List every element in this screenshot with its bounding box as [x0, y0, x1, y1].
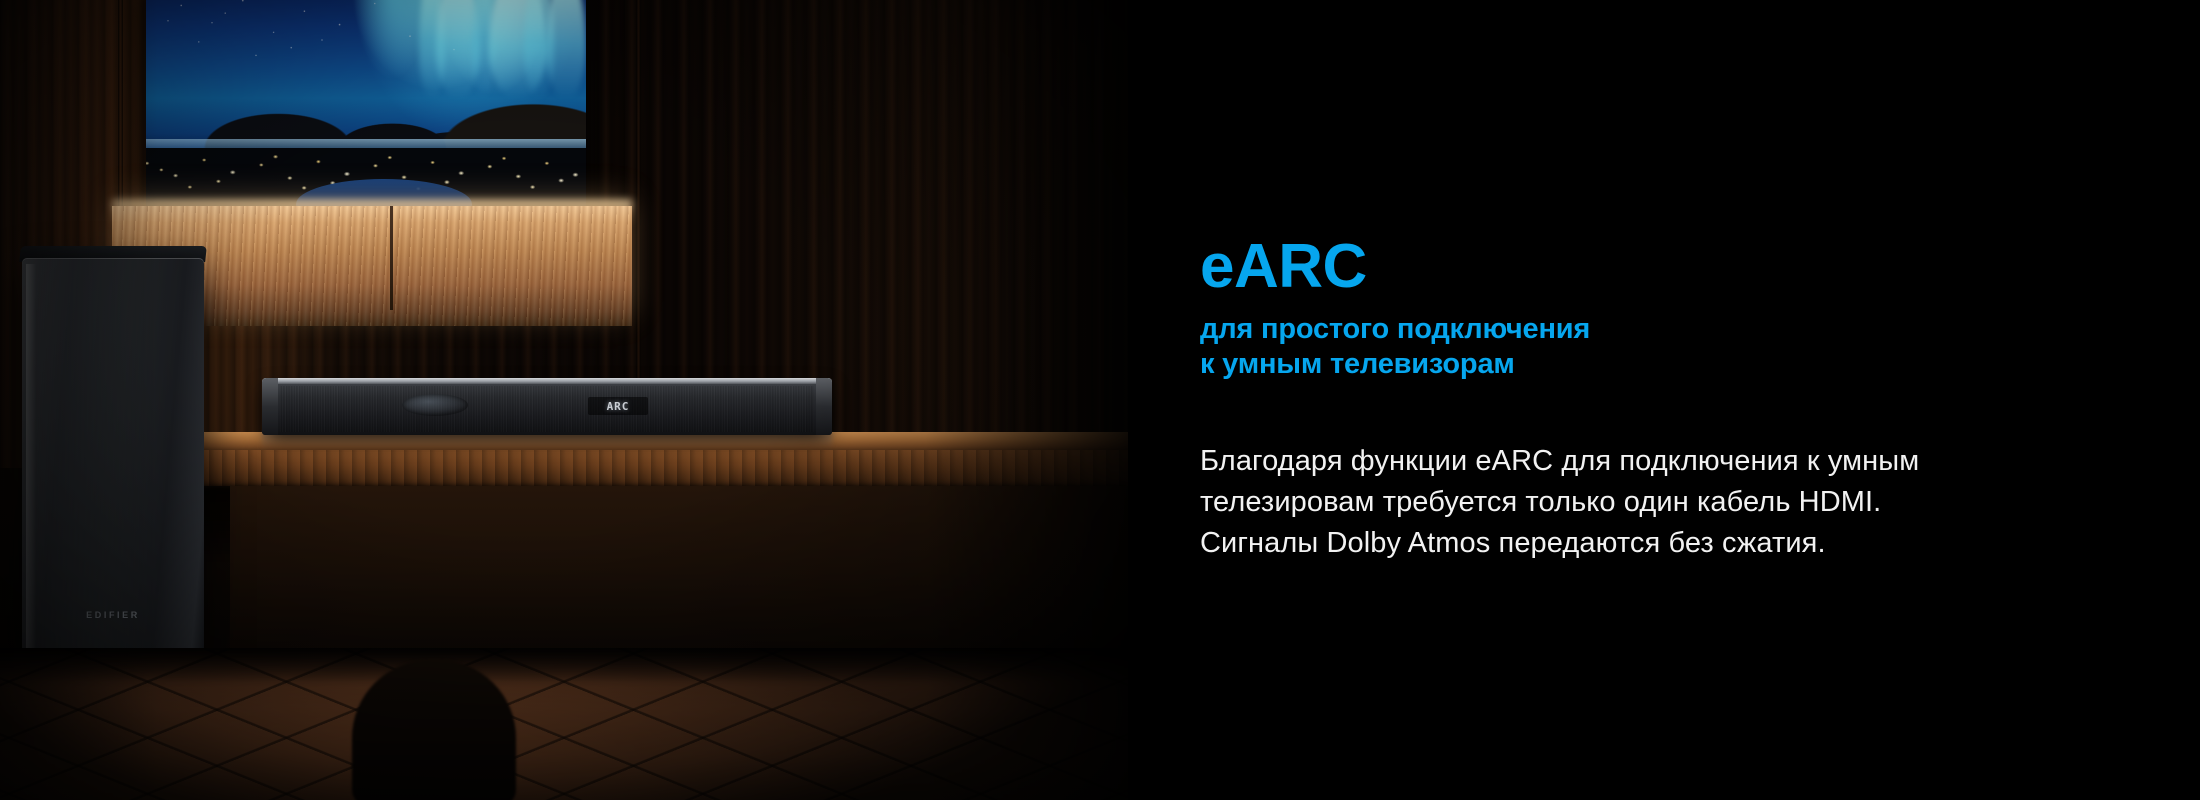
headline: eARC [1200, 236, 2200, 298]
soundbar-grille [280, 386, 814, 432]
subwoofer-brand-logo: EDIFIER [86, 610, 140, 620]
subwoofer-highlight [26, 264, 36, 650]
body-line-2: телезировам требуется только один кабель… [1200, 482, 2160, 523]
viewer-silhouette [352, 660, 516, 800]
television [146, 0, 586, 215]
soundbar-driver [402, 394, 468, 416]
mountain-silhouette [146, 72, 586, 148]
soundbar-right-cap [816, 378, 832, 435]
soundbar-display: ARC [588, 397, 648, 415]
body-line-3: Сигналы Dolby Atmos передаются без сжати… [1200, 523, 2160, 564]
product-feature-banner: ARC EDIFIER eARC для простого подключени… [0, 0, 2200, 800]
text-panel: eARC для простого подключения к умным те… [1128, 0, 2200, 800]
subheadline-line-2: к умным телевизорам [1200, 347, 2200, 382]
cabinet-body [230, 486, 1128, 656]
body-line-1: Благодаря функции eARC для подключения к… [1200, 441, 2160, 482]
subwoofer: EDIFIER [22, 258, 204, 656]
body-paragraph: Благодаря функции eARC для подключения к… [1200, 441, 2160, 565]
soundbar-top-edge [262, 378, 832, 384]
soundbar: ARC [262, 378, 832, 435]
tv-cable [390, 206, 393, 310]
soundbar-display-text: ARC [607, 400, 630, 413]
subheadline-line-1: для простого подключения [1200, 313, 1590, 345]
soundbar-left-cap [262, 378, 278, 435]
tv-screen [146, 0, 586, 215]
subheadline: для простого подключения к умным телевиз… [1200, 312, 2200, 383]
parquet-floor [0, 648, 1128, 800]
product-scene-photo: ARC EDIFIER [0, 0, 1128, 800]
shelf-front-edge [118, 450, 1128, 486]
soundbar-reflection [262, 433, 832, 449]
